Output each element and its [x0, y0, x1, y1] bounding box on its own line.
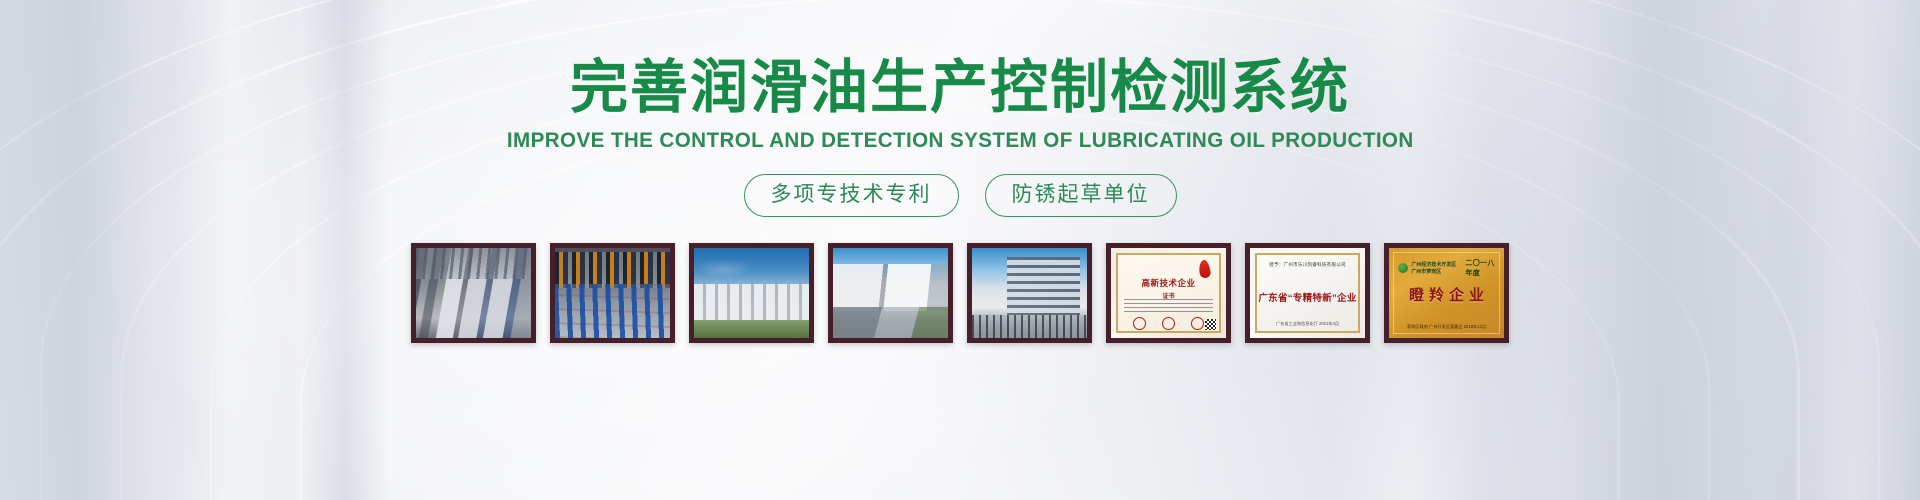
banner-subtitle: IMPROVE THE CONTROL AND DETECTION SYSTEM…: [507, 128, 1414, 153]
certificate-text-lines: [1124, 299, 1214, 312]
gallery-strip: 高新技术企业 证书 授予：广州市乐川凯睿科技有限公司 广东省“专精特新”企业: [411, 243, 1509, 343]
plaque-issuer: 萝岗区政府 广州开发区管委会 2018年12月: [1389, 323, 1504, 330]
feature-tag-patents[interactable]: 多项专技术专利: [744, 174, 959, 217]
gallery-item-production-line[interactable]: [411, 243, 536, 343]
feature-tag-list: 多项专技术专利 防锈起草单位: [744, 174, 1177, 217]
plaque-org: 广州经济技术开发区 广州市萝岗区: [1411, 261, 1462, 275]
feature-tag-antirust-standard[interactable]: 防锈起草单位: [985, 174, 1177, 217]
specialized-new-enterprise-plaque: 授予：广州市乐川凯睿科技有限公司 广东省“专精特新”企业 广东省工业和信息化厅 …: [1250, 248, 1365, 338]
seal-icon-1: [1133, 317, 1146, 330]
high-tech-enterprise-certificate: 高新技术企业 证书: [1111, 248, 1226, 338]
qr-code-icon: [1205, 319, 1216, 330]
gazelle-enterprise-plaque: 广州经济技术开发区 广州市萝岗区 二〇一八年度 瞪羚企业 萝岗区政府 广州开发区…: [1389, 248, 1504, 338]
tank-farm-photo: [694, 248, 809, 338]
plaque-title: 广东省“专精特新”企业: [1250, 290, 1365, 304]
seal-icon-3: [1191, 317, 1204, 330]
banner-content: 完善润滑油生产控制检测系统 IMPROVE THE CONTROL AND DE…: [0, 0, 1920, 500]
gallery-item-gazelle-plaque[interactable]: 广州经济技术开发区 广州市萝岗区 二〇一八年度 瞪羚企业 萝岗区政府 广州开发区…: [1384, 243, 1509, 343]
banner-title: 完善润滑油生产控制检测系统: [570, 58, 1350, 119]
certificate-title: 高新技术企业: [1111, 278, 1226, 289]
plaque-issuer: 广东省工业和信息化厅 2021年4月: [1250, 321, 1365, 327]
plaque-year: 二〇一八年度: [1465, 258, 1494, 278]
gallery-item-high-tech-certificate[interactable]: 高新技术企业 证书: [1106, 243, 1231, 343]
gallery-item-office-building[interactable]: [967, 243, 1092, 343]
gallery-item-blue-manifold[interactable]: [550, 243, 675, 343]
gallery-item-factory-buildings[interactable]: [828, 243, 953, 343]
plaque-recipient-line: 授予：广州市乐川凯睿科技有限公司: [1250, 262, 1365, 268]
plaque-title: 瞪羚企业: [1389, 284, 1504, 305]
development-zone-logo-icon: [1398, 263, 1408, 273]
plaque-header: 广州经济技术开发区 广州市萝岗区 二〇一八年度: [1398, 258, 1495, 278]
certificate-seal-group: [1125, 317, 1212, 330]
blue-manifold-photo: [555, 248, 670, 338]
office-building-photo: [972, 248, 1087, 338]
seal-icon-2: [1162, 317, 1175, 330]
factory-buildings-photo: [833, 248, 948, 338]
gallery-item-tank-farm[interactable]: [689, 243, 814, 343]
production-line-photo: [416, 248, 531, 338]
hero-banner: 完善润滑油生产控制检测系统 IMPROVE THE CONTROL AND DE…: [0, 0, 1920, 500]
gallery-item-specialized-new-plaque[interactable]: 授予：广州市乐川凯睿科技有限公司 广东省“专精特新”企业 广东省工业和信息化厅 …: [1245, 243, 1370, 343]
